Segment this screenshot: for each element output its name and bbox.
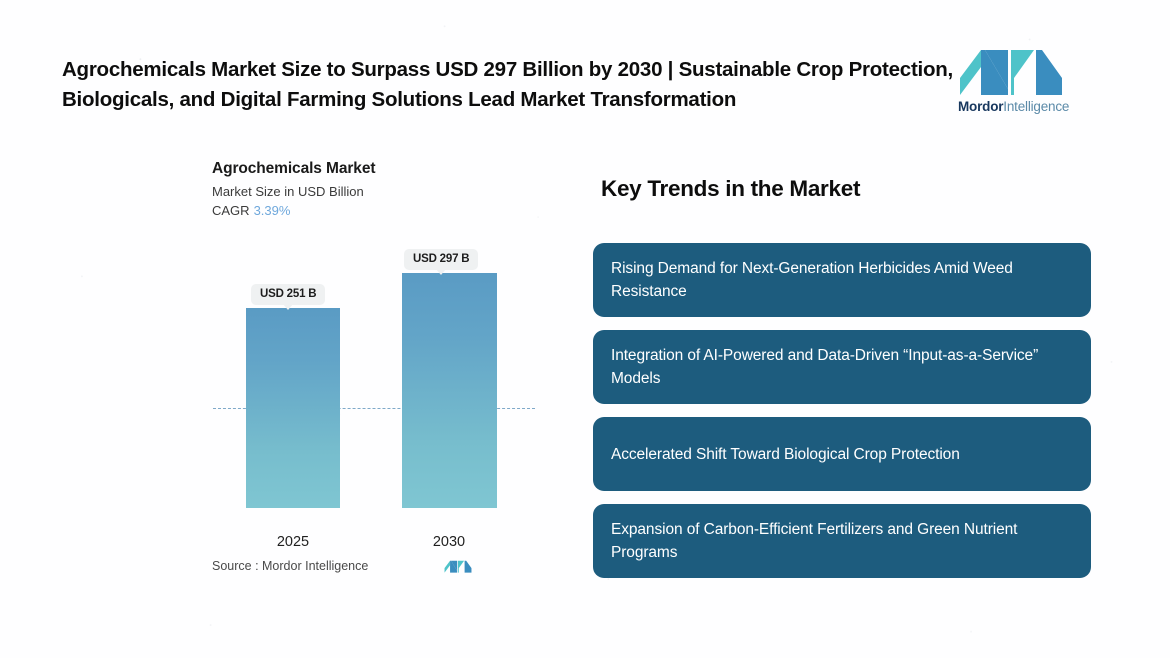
bar-2025[interactable] — [246, 308, 340, 508]
bar-value-label-2030: USD 297 B — [404, 249, 478, 270]
x-axis-label-2030: 2030 — [389, 534, 509, 550]
key-trends-list: Rising Demand for Next-Generation Herbic… — [593, 243, 1091, 591]
chart-panel: Agrochemicals Market Market Size in USD … — [212, 160, 542, 585]
chart-cagr: CAGR3.39% — [212, 203, 542, 218]
brand-wordmark: MordorIntelligence — [958, 99, 1068, 114]
infographic-canvas: Agrochemicals Market Size to Surpass USD… — [0, 0, 1170, 658]
chart-cagr-label: CAGR — [212, 203, 250, 218]
trend-card-4[interactable]: Expansion of Carbon-Efficient Fertilizer… — [593, 504, 1091, 578]
brand-wordmark-bold: Mordor — [958, 99, 1003, 114]
bar-2030[interactable] — [402, 273, 497, 508]
chart-source-row: Source : Mordor Intelligence — [212, 558, 542, 574]
page-title: Agrochemicals Market Size to Surpass USD… — [62, 55, 955, 115]
trend-card-3[interactable]: Accelerated Shift Toward Biological Crop… — [593, 417, 1091, 491]
trend-card-2[interactable]: Integration of AI-Powered and Data-Drive… — [593, 330, 1091, 404]
trend-card-text: Expansion of Carbon-Efficient Fertilizer… — [611, 518, 1073, 564]
key-trends-heading: Key Trends in the Market — [601, 176, 860, 202]
bar-value-label-2025: USD 251 B — [251, 284, 325, 305]
trend-card-1[interactable]: Rising Demand for Next-Generation Herbic… — [593, 243, 1091, 317]
trend-card-text: Integration of AI-Powered and Data-Drive… — [611, 344, 1073, 390]
chart-subtitle: Market Size in USD Billion — [212, 184, 542, 199]
trend-card-text: Rising Demand for Next-Generation Herbic… — [611, 257, 1073, 303]
mordor-intelligence-mark-icon — [444, 558, 472, 574]
trend-card-text: Accelerated Shift Toward Biological Crop… — [611, 443, 960, 466]
brand-logo: MordorIntelligence — [958, 45, 1068, 120]
x-axis-label-2025: 2025 — [233, 534, 353, 550]
bar-chart-plot: USD 251 B USD 297 B 2025 2030 — [212, 248, 542, 528]
chart-title: Agrochemicals Market — [212, 160, 542, 178]
mordor-intelligence-logo-icon — [958, 45, 1064, 95]
chart-source-text: Source : Mordor Intelligence — [212, 559, 368, 573]
chart-cagr-value: 3.39% — [254, 203, 291, 218]
brand-wordmark-light: Intelligence — [1003, 99, 1069, 114]
